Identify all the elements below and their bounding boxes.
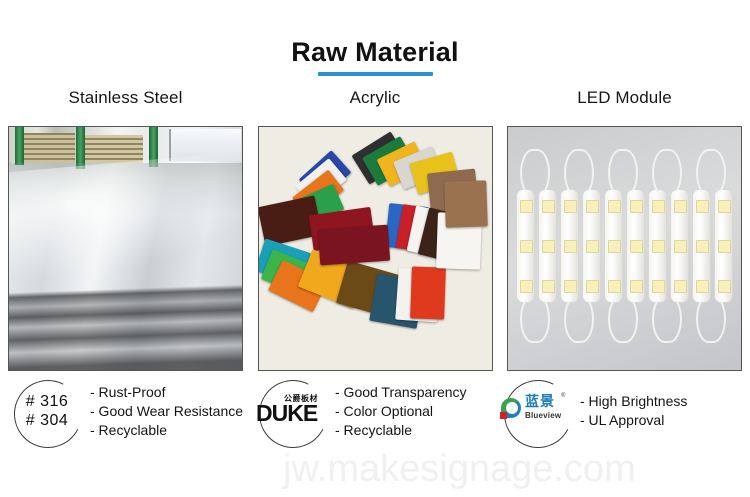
registered-mark: ® (561, 393, 565, 399)
led-chip (630, 240, 643, 253)
led-chip (564, 280, 577, 293)
led-chip (542, 240, 555, 253)
led-chip (586, 200, 599, 213)
led-chip (652, 200, 665, 213)
led-module-unit (714, 189, 733, 303)
feature-item: - Rust-Proof (90, 383, 243, 402)
duke-logo: DUKE 公爵板材 (253, 378, 331, 444)
duke-logo-mark: DUKE 公爵板材 (256, 394, 328, 428)
feature-item: - Good Wear Resistance (90, 402, 243, 421)
site-watermark: jw.makesignage.com (283, 447, 636, 491)
acrylic-chip (410, 266, 446, 319)
column-acrylic: Acrylic (258, 86, 493, 371)
red-square-icon (500, 412, 507, 419)
photo-acrylic (258, 126, 493, 371)
green-pillar (15, 127, 24, 165)
led-chip (718, 200, 731, 213)
badge-acrylic: DUKE 公爵板材 - Good Transparency - Color Op… (253, 378, 497, 444)
blueview-logo: 蓝景 Blueview ® (498, 378, 576, 444)
led-module-unit (538, 189, 557, 303)
led-wire (564, 149, 594, 197)
grade-emblem: # 316 # 304 (8, 378, 86, 444)
led-wire (696, 149, 726, 197)
column-stainless-steel: Stainless Steel (8, 86, 243, 371)
photo-led-module (507, 126, 742, 371)
led-module-unit (692, 189, 711, 303)
led-chip (630, 280, 643, 293)
led-chip (520, 280, 533, 293)
led-wire (564, 295, 594, 343)
duke-chinese-name: 公爵板材 (284, 394, 318, 403)
led-chip (674, 200, 687, 213)
led-chip (674, 280, 687, 293)
led-chip (520, 200, 533, 213)
led-chip (696, 240, 709, 253)
blueview-chinese-name: 蓝景 (525, 394, 555, 409)
led-module-unit (560, 189, 579, 303)
column-header-acrylic: Acrylic (258, 86, 493, 110)
led-chip (652, 240, 665, 253)
led-chip (608, 200, 621, 213)
led-chip (652, 280, 665, 293)
led-wire (608, 149, 638, 197)
led-module-unit (604, 189, 623, 303)
led-chip (586, 240, 599, 253)
column-header-stainless-steel: Stainless Steel (8, 86, 243, 110)
led-chip (542, 200, 555, 213)
feature-list-acrylic: - Good Transparency - Color Optional - R… (335, 383, 467, 440)
led-module-unit (648, 189, 667, 303)
led-chip (630, 200, 643, 213)
led-chip (520, 240, 533, 253)
title-underline-rule (318, 72, 433, 76)
led-wire (696, 295, 726, 343)
led-module-unit (626, 189, 645, 303)
led-chip (564, 240, 577, 253)
steel-grade-304: # 304 (26, 411, 69, 430)
led-chip (696, 200, 709, 213)
feature-list-stainless-steel: - Rust-Proof - Good Wear Resistance - Re… (90, 383, 243, 440)
feature-item: - High Brightness (580, 392, 687, 411)
led-chip (608, 280, 621, 293)
material-stack (85, 135, 143, 163)
feature-list-led-module: - High Brightness - UL Approval (580, 392, 687, 430)
feature-item: - Good Transparency (335, 383, 467, 402)
feature-item: - Recyclable (335, 421, 467, 440)
led-wire (520, 295, 550, 343)
material-stack (23, 133, 75, 163)
page-title: Raw Material (0, 36, 750, 68)
led-chip (542, 280, 555, 293)
led-module-unit (670, 189, 689, 303)
steel-grade-316: # 316 (26, 392, 69, 411)
feature-badges: # 316 # 304 - Rust-Proof - Good Wear Res… (8, 378, 742, 444)
feature-item: - UL Approval (580, 411, 687, 430)
blueview-swoosh-icon (499, 397, 523, 421)
led-wire (608, 295, 638, 343)
led-chip (586, 280, 599, 293)
feature-item: - Color Optional (335, 402, 467, 421)
led-chip (674, 240, 687, 253)
blueview-wordmark: Blueview (525, 411, 561, 420)
led-wire (652, 295, 682, 343)
led-wire (520, 149, 550, 197)
swoosh-cutout (506, 402, 518, 414)
badge-stainless-steel: # 316 # 304 - Rust-Proof - Good Wear Res… (8, 378, 252, 444)
acrylic-chip (444, 180, 488, 227)
led-chip (718, 240, 731, 253)
led-module-unit (516, 189, 535, 303)
sheet-glare (8, 148, 243, 294)
duke-wordmark: DUKE (256, 402, 317, 425)
feature-item: - Recyclable (90, 421, 243, 440)
led-chip (608, 240, 621, 253)
badge-led-module: 蓝景 Blueview ® - High Brightness - UL App… (498, 378, 742, 444)
led-module-unit (582, 189, 601, 303)
photo-stainless-steel (8, 126, 243, 371)
page-title-block: Raw Material (0, 36, 750, 76)
column-led-module: LED Module (507, 86, 742, 371)
material-columns: Stainless Steel Acrylic (8, 86, 742, 371)
led-chip (696, 280, 709, 293)
led-wire (652, 149, 682, 197)
led-chip (718, 280, 731, 293)
led-chip (564, 200, 577, 213)
acrylic-chip (317, 225, 389, 266)
blueview-logo-mark: 蓝景 Blueview ® (499, 393, 575, 429)
column-header-led-module: LED Module (507, 86, 742, 110)
